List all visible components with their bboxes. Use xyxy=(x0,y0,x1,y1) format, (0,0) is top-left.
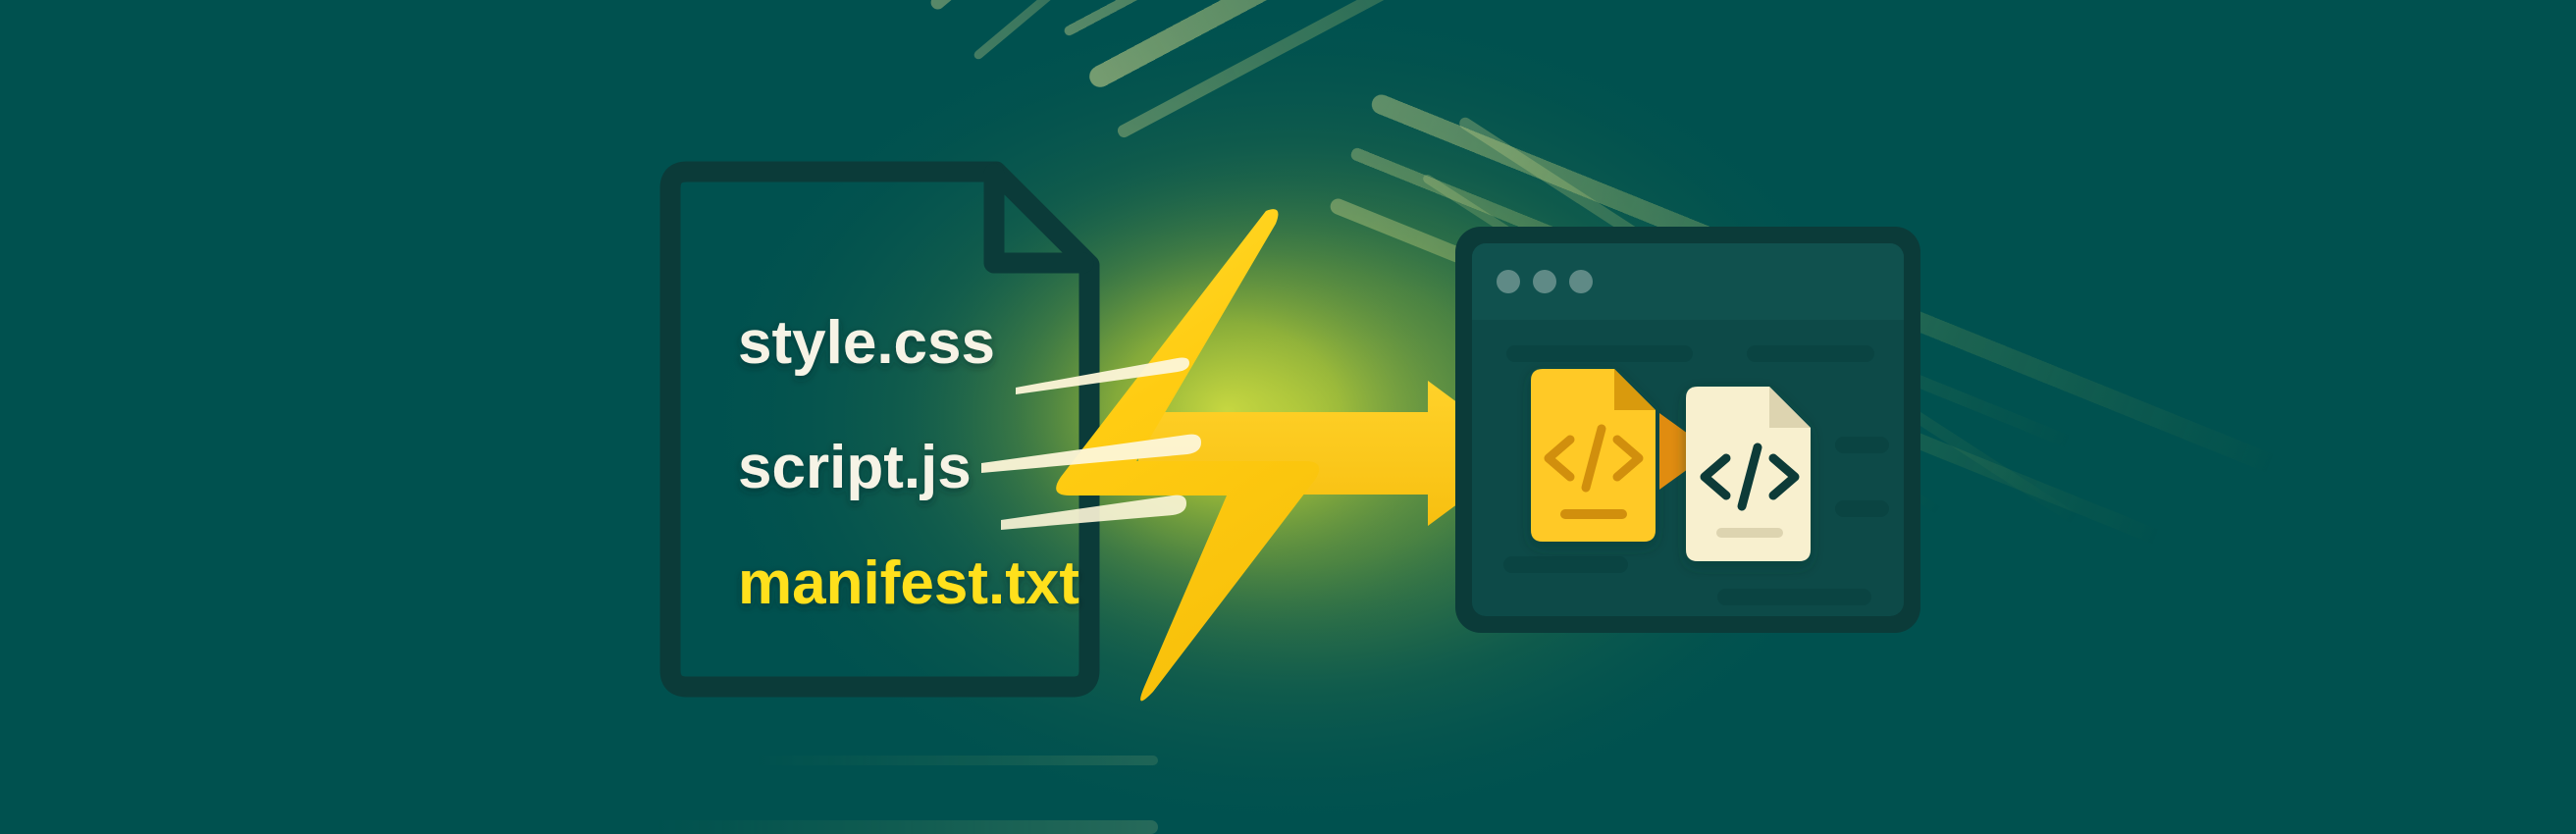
build-pipeline-illustration: style.css script.js manifest.txt xyxy=(0,0,2576,834)
source-file-document-hit[interactable] xyxy=(670,172,1090,688)
browser-preview-window-hit[interactable] xyxy=(1455,227,1920,633)
illustration-canvas: style.css script.js manifest.txt xyxy=(0,0,2576,834)
